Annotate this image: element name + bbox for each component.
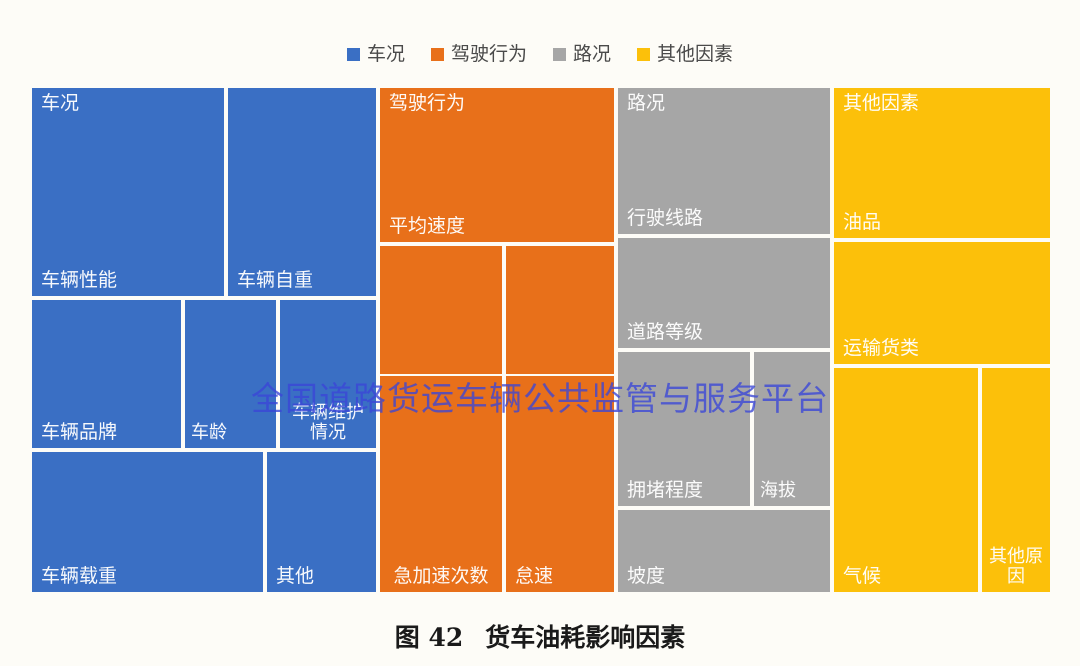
treemap-cell[interactable]: 车辆维护情况 (278, 298, 378, 450)
treemap-cell[interactable]: 坡度 (616, 508, 832, 594)
treemap-cell-label: 车辆品牌 (41, 422, 177, 443)
treemap-group-label: 路况 (627, 93, 665, 115)
treemap-cell-label: 车辆载重 (41, 566, 259, 587)
treemap-cell-label: 怠速 (515, 566, 610, 587)
treemap-group-label: 驾驶行为 (389, 93, 465, 115)
legend-item-1[interactable]: 驾驶行为 (431, 45, 527, 64)
treemap-cell[interactable]: 怠速 (504, 374, 616, 594)
treemap-cell[interactable]: 其他因素油品 (832, 86, 1052, 240)
caption-text: 货车油耗影响因素 (485, 623, 685, 652)
treemap-cell-label: 急加速次数 (384, 566, 498, 587)
legend-swatch-icon (553, 48, 566, 61)
treemap-cell[interactable]: 运输货类 (832, 240, 1052, 366)
treemap-cell-label: 车龄 (191, 423, 273, 443)
chart-legend: 车况驾驶行为路况其他因素 (0, 40, 1080, 68)
treemap-group-label: 其他因素 (843, 93, 919, 115)
legend-swatch-icon (347, 48, 360, 61)
treemap-cell[interactable]: 其他原因 (980, 366, 1052, 594)
treemap-cell-label: 平均速度 (389, 216, 610, 237)
legend-item-2[interactable]: 路况 (553, 45, 611, 64)
legend-label: 车况 (367, 45, 405, 64)
treemap-cell-label: 车辆性能 (41, 270, 220, 291)
legend-label: 驾驶行为 (451, 45, 527, 64)
treemap-cell[interactable]: 车辆自重 (226, 86, 378, 298)
treemap-cell-label: 其他原因 (986, 547, 1046, 587)
treemap-cell-label: 行驶线路 (627, 208, 826, 229)
treemap-cell-label: 海拔 (760, 481, 827, 501)
treemap-chart: 车况车辆性能车辆自重车辆品牌车龄车辆维护情况车辆载重其他驾驶行为平均速度急减速次… (30, 86, 1052, 594)
treemap-cell[interactable]: 气候 (832, 366, 980, 594)
legend-swatch-icon (637, 48, 650, 61)
treemap-cell[interactable]: 车龄 (183, 298, 278, 450)
treemap-cell-label: 车辆维护情况 (284, 403, 372, 443)
treemap-cell[interactable]: 路况行驶线路 (616, 86, 832, 236)
treemap-cell[interactable]: 拥堵程度 (616, 350, 752, 508)
treemap-cell-label: 车辆自重 (237, 270, 372, 291)
treemap-cell-label: 道路等级 (627, 322, 826, 343)
figure-container: 车况驾驶行为路况其他因素 车况车辆性能车辆自重车辆品牌车龄车辆维护情况车辆载重其… (0, 0, 1080, 666)
treemap-cell-label: 坡度 (627, 566, 826, 587)
treemap-group-label: 车况 (41, 93, 79, 115)
legend-item-3[interactable]: 其他因素 (637, 45, 733, 64)
treemap-cell[interactable]: 车辆载重 (30, 450, 265, 594)
treemap-cell[interactable]: 车况车辆性能 (30, 86, 226, 298)
treemap-cell[interactable]: 车辆品牌 (30, 298, 183, 450)
legend-item-0[interactable]: 车况 (347, 45, 405, 64)
treemap-cell-label: 油品 (843, 212, 1046, 233)
legend-label: 其他因素 (657, 45, 733, 64)
treemap-cell[interactable]: 急加速次数 (378, 374, 504, 594)
treemap-cell-label: 拥堵程度 (627, 480, 746, 501)
treemap-cell[interactable]: 驾驶行为平均速度 (378, 86, 616, 244)
legend-label: 路况 (573, 45, 611, 64)
treemap-cell[interactable]: 海拔 (752, 350, 832, 508)
treemap-cell[interactable]: 道路等级 (616, 236, 832, 350)
figure-caption: 图 42货车油耗影响因素 (0, 618, 1080, 654)
treemap-cell-label: 气候 (843, 566, 974, 587)
treemap-cell-label: 运输货类 (843, 338, 1046, 359)
treemap-cell[interactable]: 其他 (265, 450, 378, 594)
treemap-cell-label: 其他 (276, 566, 372, 587)
legend-swatch-icon (431, 48, 444, 61)
caption-number: 图 42 (395, 623, 464, 652)
